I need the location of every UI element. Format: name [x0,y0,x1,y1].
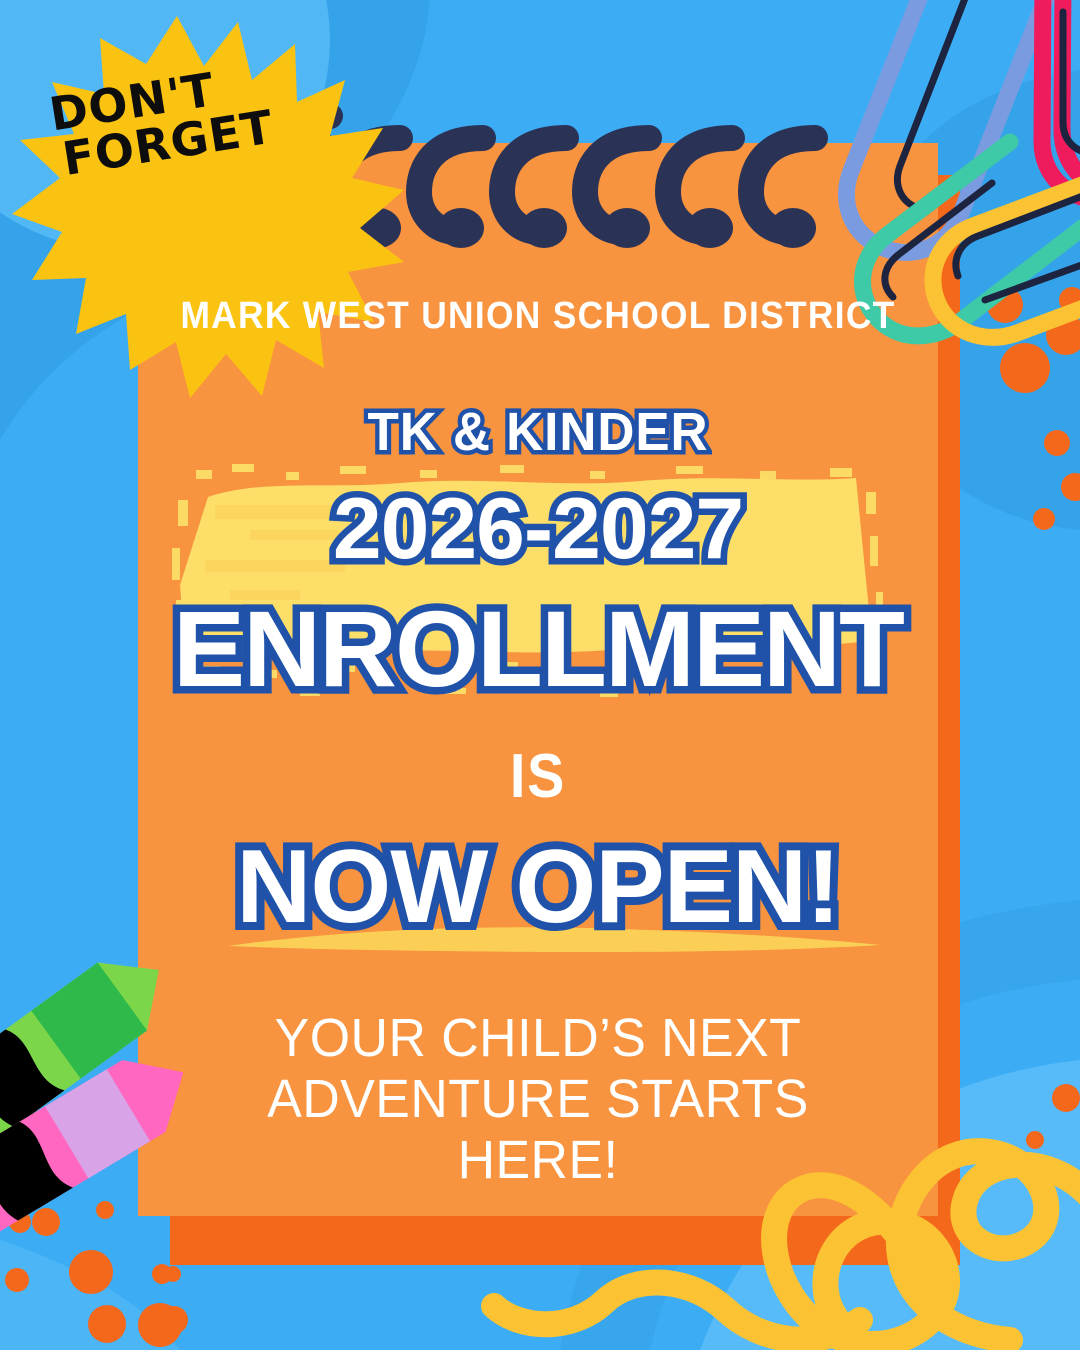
tagline: YOUR CHILD’S NEXT ADVENTURE STARTS HERE! [183,1008,893,1191]
tagline-line-1: YOUR CHILD’S NEXT [275,1008,802,1068]
school-year: 2026-2027 [130,480,946,579]
poster-canvas: DON'T FORGET [0,0,1080,1350]
district-name: MARK WEST UNION SCHOOL DISTRICT [166,295,910,338]
tagline-line-2: ADVENTURE STARTS HERE! [267,1069,809,1190]
headline-enrollment: ENROLLMENT [138,586,938,711]
program-label: TK & KINDER [158,401,918,463]
connector-word: IS [178,741,898,812]
poster-content: MARK WEST UNION SCHOOL DISTRICT TK & KIN… [138,143,938,1216]
status-now-open: NOW OPEN! [138,828,938,947]
